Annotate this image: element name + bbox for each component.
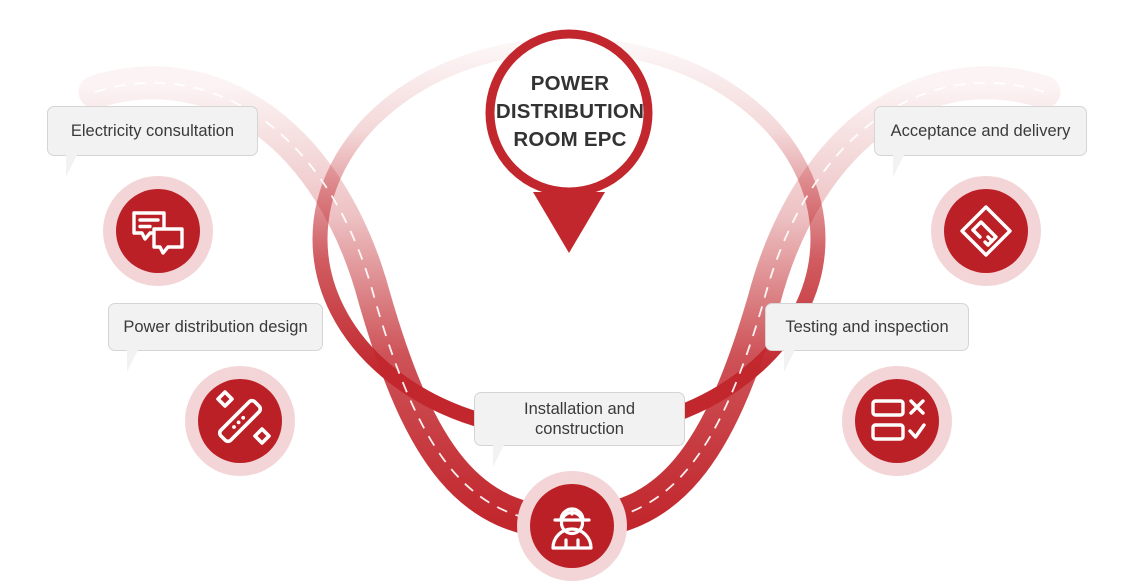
node-electricity-consultation[interactable] — [103, 176, 213, 286]
callout-tail — [66, 155, 77, 177]
node-acceptance-delivery[interactable] — [931, 176, 1041, 286]
label-electricity-consultation[interactable]: Electricity consultation — [47, 106, 258, 156]
label-text: Installation and construction — [489, 399, 670, 439]
node-installation-construction[interactable] — [517, 471, 627, 581]
label-text: Testing and inspection — [785, 317, 948, 337]
map-pin-icon — [489, 33, 649, 253]
process-cycle-graphic — [0, 0, 1139, 587]
label-power-distribution-design[interactable]: Power distribution design — [108, 303, 323, 351]
diagram-canvas: POWER DISTRIBUTION ROOM EPC Electricity … — [0, 0, 1139, 587]
callout-tail — [784, 350, 795, 372]
label-installation-construction[interactable]: Installation and construction — [474, 392, 685, 446]
node-power-distribution-design[interactable] — [185, 366, 295, 476]
label-testing-inspection[interactable]: Testing and inspection — [765, 303, 969, 351]
label-text: Acceptance and delivery — [891, 121, 1071, 141]
node-testing-inspection[interactable] — [842, 366, 952, 476]
label-acceptance-delivery[interactable]: Acceptance and delivery — [874, 106, 1087, 156]
callout-tail — [127, 350, 138, 372]
callout-tail — [493, 445, 504, 467]
label-text: Power distribution design — [123, 317, 307, 337]
label-text: Electricity consultation — [71, 121, 234, 141]
callout-tail — [893, 155, 904, 177]
